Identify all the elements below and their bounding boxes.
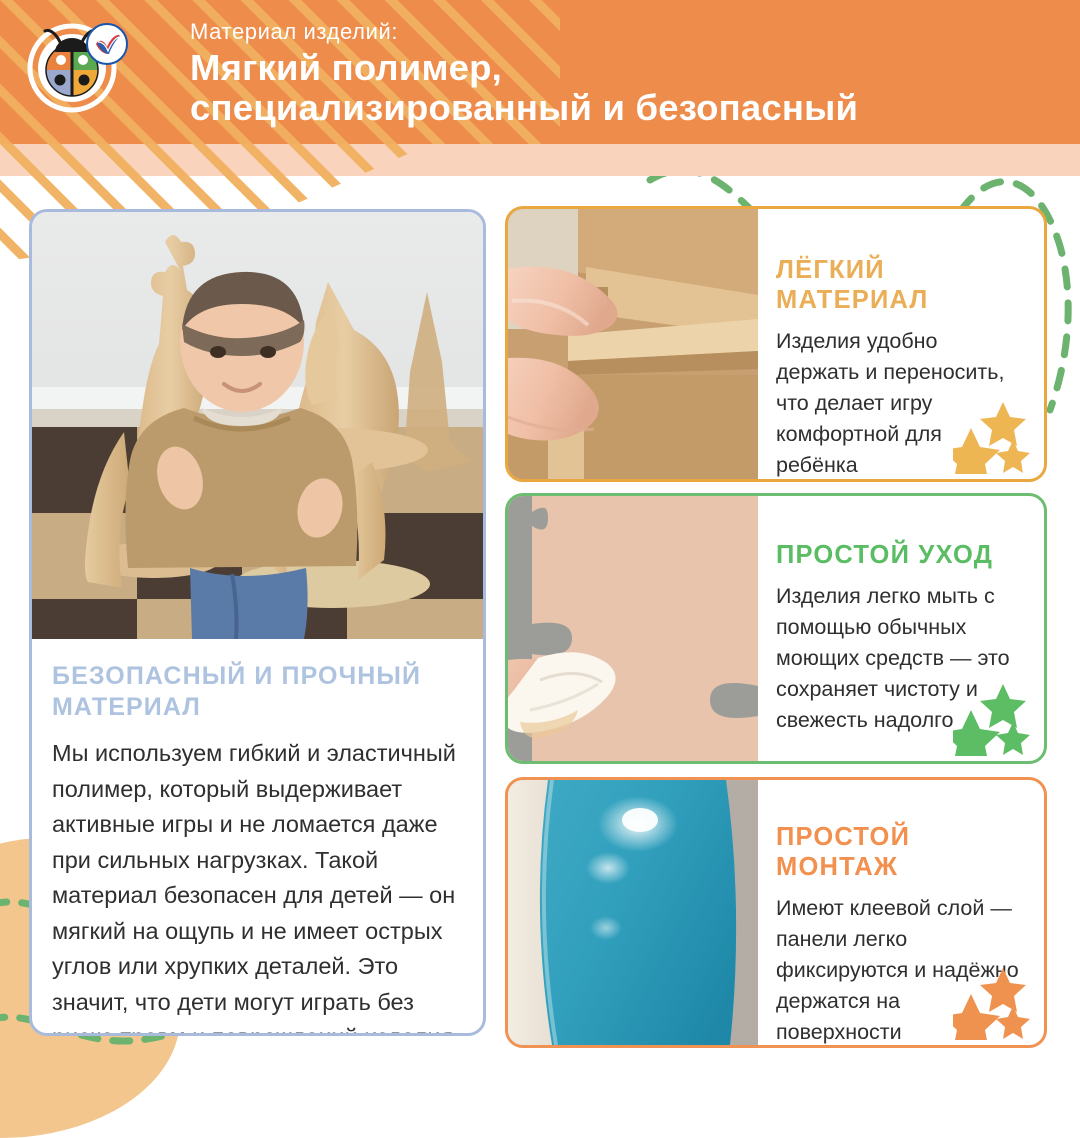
left-card-title: БЕЗОПАСНЫЙ И ПРОЧНЫЙ МАТЕРИАЛ xyxy=(52,661,461,723)
card-mount-title: ПРОСТОЙ МОНТАЖ xyxy=(776,822,1026,882)
header-headline-line2: специализированный и безопасный xyxy=(190,88,1070,128)
header-headline-line1: Мягкий полимер, xyxy=(190,48,1070,88)
wiping-puzzle-mat-photo xyxy=(508,496,758,761)
russian-flag-check-badge xyxy=(87,24,127,64)
header-kicker: Материал изделий: xyxy=(190,18,1070,46)
card-care-title: ПРОСТОЙ УХОД xyxy=(776,540,1026,570)
feature-card-light-material[interactable]: ЛЁГКИЙ МАТЕРИАЛ Изделия удобно держать и… xyxy=(505,206,1047,482)
boy-with-chess-pieces-photo xyxy=(32,212,483,639)
stars-decoration-icon xyxy=(953,966,1037,1040)
stars-decoration-icon xyxy=(953,400,1037,474)
ladybug-logo xyxy=(27,14,129,116)
card-light-title: ЛЁГКИЙ МАТЕРИАЛ xyxy=(776,255,1026,315)
left-card-text: Мы используем гибкий и эластичный полиме… xyxy=(52,736,461,1036)
feature-card-easy-care[interactable]: ПРОСТОЙ УХОД Изделия легко мыть с помощь… xyxy=(505,493,1047,764)
hand-holding-panel-photo xyxy=(508,209,758,479)
turquoise-panel-photo xyxy=(508,780,758,1045)
feature-card-easy-mounting[interactable]: ПРОСТОЙ МОНТАЖ Имеют клеевой слой — пане… xyxy=(505,777,1047,1048)
stars-decoration-icon xyxy=(953,682,1037,756)
left-feature-card[interactable]: БЕЗОПАСНЫЙ И ПРОЧНЫЙ МАТЕРИАЛ Мы использ… xyxy=(29,209,486,1036)
